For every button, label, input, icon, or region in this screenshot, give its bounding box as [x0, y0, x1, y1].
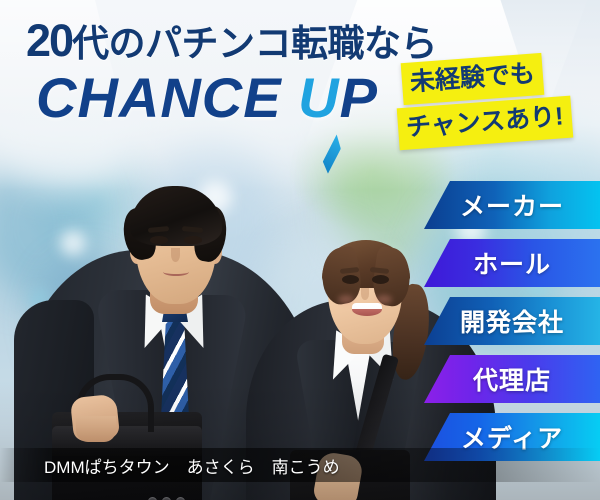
man-hair: [130, 186, 222, 246]
page-title: 20代のパチンコ転職なら: [26, 18, 437, 63]
caption-text: DMMぱちタウン あさくら 南こうめ: [44, 453, 340, 478]
woman-eye-left: [342, 275, 359, 284]
woman-eye-right: [372, 275, 389, 284]
man-eye-left: [150, 236, 168, 244]
headline-rest: 代のパチンコ転職なら: [72, 23, 437, 64]
badge-line-1: 未経験でも: [401, 53, 545, 105]
promo-banner: 20代のパチンコ転職なら CHANCE UP 未経験でも チャンスあり! メーカ…: [0, 0, 600, 500]
badge-line-2: チャンスあり!: [397, 96, 573, 151]
man-fingers: [76, 416, 116, 442]
brand-logo: CHANCE UP: [36, 70, 378, 126]
woman-nose: [361, 288, 369, 300]
headline-number: 20: [26, 15, 72, 66]
logo-p: P: [340, 66, 378, 129]
logo-u: U: [298, 66, 339, 129]
status-badge: 未経験でも チャンスあり!: [398, 58, 598, 150]
logo-chance: CHANCE: [36, 66, 282, 129]
category-button-hall[interactable]: ホール: [424, 239, 600, 287]
caption-bar: DMMぱちタウン あさくら 南こうめ: [0, 448, 600, 482]
woman-cheek-left: [338, 295, 354, 304]
category-button-agency[interactable]: 代理店: [424, 355, 600, 403]
man-eye-right: [184, 236, 202, 244]
category-button-maker[interactable]: メーカー: [424, 181, 600, 229]
woman-mouth: [352, 303, 382, 316]
man-mouth: [163, 268, 189, 276]
man-nose: [171, 248, 180, 262]
category-button-developer[interactable]: 開発会社: [424, 297, 600, 345]
